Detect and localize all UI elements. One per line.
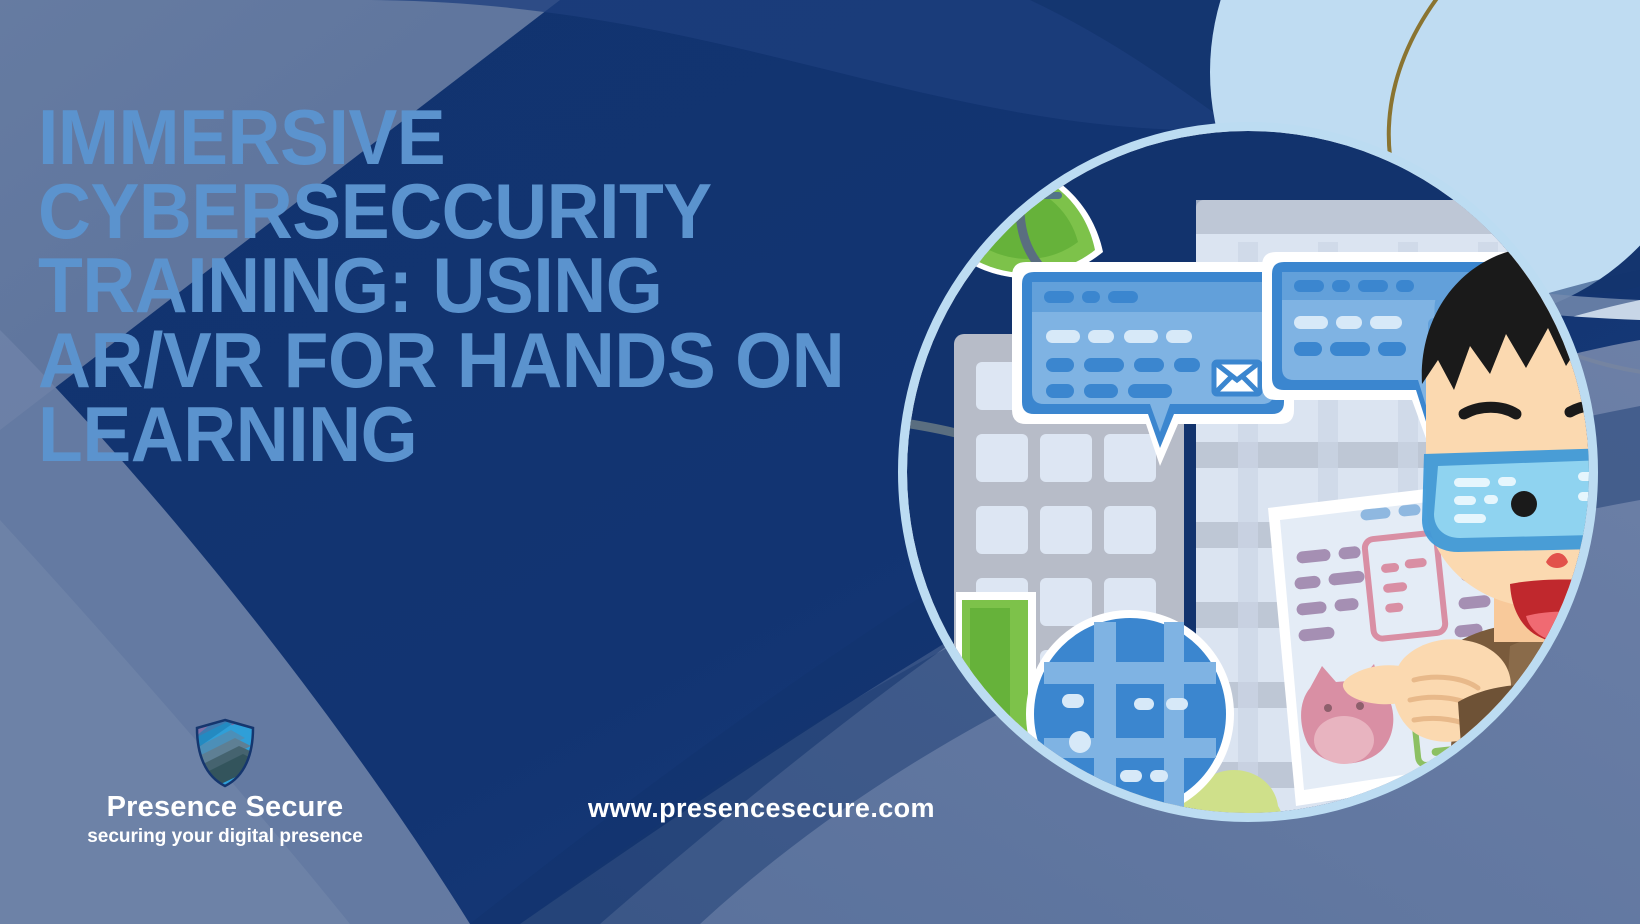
ar-vr-training-illustration xyxy=(898,122,1598,822)
green-leaf-right xyxy=(1490,187,1584,243)
banner-canvas: IMMERSIVE CYBERSECCURITY TRAINING: USING… xyxy=(0,0,1640,924)
green-leaf-top xyxy=(928,157,1103,279)
green-tree-left xyxy=(956,592,1036,822)
page-title: IMMERSIVE CYBERSECCURITY TRAINING: USING… xyxy=(38,100,893,470)
panel-blue-card xyxy=(1502,699,1576,752)
website-url[interactable]: www.presencesecure.com xyxy=(588,793,935,824)
ar-goggles xyxy=(1422,446,1598,552)
illustration-ring xyxy=(898,122,1598,822)
brand-name: Presence Secure xyxy=(80,792,370,824)
brand-tagline: securing your digital presence xyxy=(80,826,370,849)
brand-logo-block: Presence Secure securing your digital pr… xyxy=(80,718,370,849)
circular-map xyxy=(1026,610,1234,818)
illustration-container xyxy=(898,122,1598,822)
shield-logo-icon xyxy=(193,718,257,788)
mail-icon xyxy=(1214,362,1260,394)
